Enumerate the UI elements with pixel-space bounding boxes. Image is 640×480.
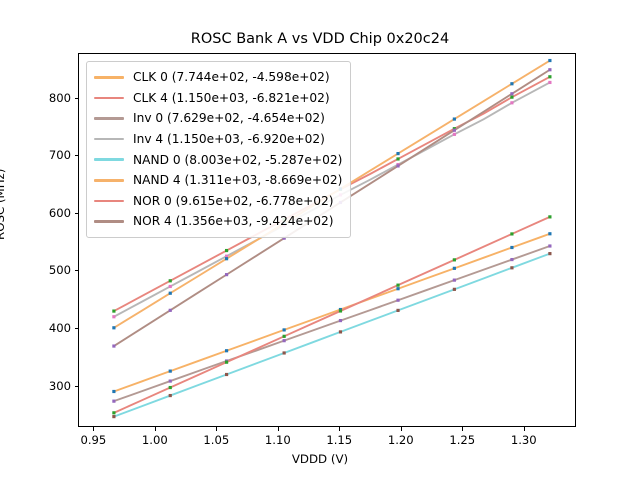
- series-marker: [396, 299, 399, 302]
- legend-item-label: NAND 4 (1.311e+03, -8.669e+02): [133, 173, 342, 187]
- legend-item-label: NOR 0 (9.615e+02, -6.778e+02): [133, 194, 334, 208]
- series-marker: [453, 288, 456, 291]
- legend-color-swatch: [94, 117, 124, 120]
- legend-color-swatch: [94, 220, 124, 223]
- legend-item[interactable]: NOR 4 (1.356e+03, -9.424e+02): [94, 211, 342, 232]
- series-marker: [112, 326, 115, 329]
- legend-item-label: CLK 0 (7.744e+02, -4.598e+02): [133, 70, 330, 84]
- series-marker: [339, 309, 342, 312]
- series-marker: [396, 309, 399, 312]
- series-marker: [396, 287, 399, 290]
- series-marker: [112, 390, 115, 393]
- series-marker: [548, 68, 551, 71]
- series-marker: [453, 129, 456, 132]
- series-marker: [453, 117, 456, 120]
- legend-color-swatch: [94, 76, 124, 79]
- series-marker: [453, 279, 456, 282]
- legend-item-label: CLK 4 (1.150e+03, -6.821e+02): [133, 91, 330, 105]
- x-tick-mark: [524, 427, 525, 431]
- x-tick-mark: [278, 427, 279, 431]
- series-marker: [548, 215, 551, 218]
- series-marker: [396, 284, 399, 287]
- series-marker: [225, 349, 228, 352]
- series-marker: [339, 319, 342, 322]
- y-tick-label: 800: [38, 91, 71, 105]
- series-line: [114, 246, 550, 401]
- x-tick-label: 1.25: [449, 433, 475, 447]
- x-tick-label: 1.20: [388, 433, 414, 447]
- series-marker: [225, 361, 228, 364]
- series-marker: [548, 59, 551, 62]
- legend-color-swatch: [94, 158, 124, 161]
- series-marker: [453, 267, 456, 270]
- series-marker: [283, 339, 286, 342]
- legend-color-swatch: [94, 179, 124, 182]
- legend-item[interactable]: CLK 4 (1.150e+03, -6.821e+02): [94, 88, 342, 109]
- legend-color-swatch: [94, 97, 124, 100]
- legend-color-swatch: [94, 138, 124, 141]
- legend-color-swatch: [94, 200, 124, 203]
- series-marker: [112, 344, 115, 347]
- series-marker: [169, 386, 172, 389]
- series-marker: [510, 82, 513, 85]
- series-marker: [169, 379, 172, 382]
- x-tick-mark: [401, 427, 402, 431]
- series-marker: [453, 258, 456, 261]
- legend-item[interactable]: NOR 0 (9.615e+02, -6.778e+02): [94, 191, 342, 212]
- series-marker: [396, 157, 399, 160]
- chart-title: ROSC Bank A vs VDD Chip 0x20c24: [0, 31, 640, 47]
- y-tick-label: 700: [38, 148, 71, 162]
- series-marker: [283, 328, 286, 331]
- series-marker: [510, 246, 513, 249]
- x-tick-mark: [462, 427, 463, 431]
- series-marker: [225, 257, 228, 260]
- y-tick-label: 400: [38, 321, 71, 335]
- series-marker: [548, 244, 551, 247]
- legend-item[interactable]: NAND 4 (1.311e+03, -8.669e+02): [94, 170, 342, 191]
- series-marker: [548, 252, 551, 255]
- series-marker: [225, 273, 228, 276]
- series-marker: [510, 232, 513, 235]
- series-marker: [339, 330, 342, 333]
- series-marker: [548, 232, 551, 235]
- y-tick-label: 300: [38, 379, 71, 393]
- series-marker: [169, 285, 172, 288]
- series-marker: [112, 415, 115, 418]
- x-tick-mark: [93, 427, 94, 431]
- y-axis-label: ROSC (MHz): [0, 169, 7, 240]
- series-marker: [112, 411, 115, 414]
- x-tick-label: 1.10: [265, 433, 291, 447]
- y-tick-label: 600: [38, 206, 71, 220]
- series-marker: [112, 400, 115, 403]
- series-marker: [169, 309, 172, 312]
- legend-item-label: Inv 4 (1.150e+03, -6.920e+02): [133, 132, 325, 146]
- x-tick-label: 1.00: [142, 433, 168, 447]
- chart-legend: CLK 0 (7.744e+02, -4.598e+02)CLK 4 (1.15…: [86, 61, 351, 238]
- series-marker: [112, 315, 115, 318]
- x-tick-label: 1.30: [511, 433, 537, 447]
- series-marker: [396, 164, 399, 167]
- legend-item[interactable]: CLK 0 (7.744e+02, -4.598e+02): [94, 67, 342, 88]
- series-marker: [283, 335, 286, 338]
- series-marker: [169, 279, 172, 282]
- series-marker: [169, 394, 172, 397]
- x-axis-label: VDDD (V): [0, 452, 640, 466]
- legend-item[interactable]: Inv 0 (7.629e+02, -4.654e+02): [94, 108, 342, 129]
- series-marker: [548, 81, 551, 84]
- series-marker: [510, 266, 513, 269]
- series-marker: [510, 92, 513, 95]
- y-tick-label: 500: [38, 263, 71, 277]
- legend-item-label: Inv 0 (7.629e+02, -4.654e+02): [133, 111, 325, 125]
- series-marker: [510, 258, 513, 261]
- x-tick-label: 1.15: [326, 433, 352, 447]
- series-marker: [169, 292, 172, 295]
- legend-item[interactable]: Inv 4 (1.150e+03, -6.920e+02): [94, 129, 342, 150]
- chart-figure: ROSC Bank A vs VDD Chip 0x20c24 ROSC (MH…: [0, 0, 640, 480]
- series-marker: [396, 152, 399, 155]
- series-line: [114, 254, 550, 417]
- x-tick-label: 1.05: [203, 433, 229, 447]
- series-marker: [510, 101, 513, 104]
- series-marker: [510, 96, 513, 99]
- x-tick-label: 0.95: [80, 433, 106, 447]
- legend-item-label: NAND 0 (8.003e+02, -5.287e+02): [133, 153, 342, 167]
- x-tick-mark: [155, 427, 156, 431]
- series-marker: [225, 249, 228, 252]
- series-marker: [548, 75, 551, 78]
- x-tick-mark: [216, 427, 217, 431]
- series-marker: [169, 370, 172, 373]
- x-tick-mark: [339, 427, 340, 431]
- series-marker: [283, 351, 286, 354]
- series-marker: [225, 373, 228, 376]
- series-marker: [112, 309, 115, 312]
- legend-item[interactable]: NAND 0 (8.003e+02, -5.287e+02): [94, 149, 342, 170]
- legend-item-label: NOR 4 (1.356e+03, -9.424e+02): [133, 214, 334, 228]
- series-marker: [453, 133, 456, 136]
- series-line: [114, 217, 550, 413]
- series-line: [114, 234, 550, 392]
